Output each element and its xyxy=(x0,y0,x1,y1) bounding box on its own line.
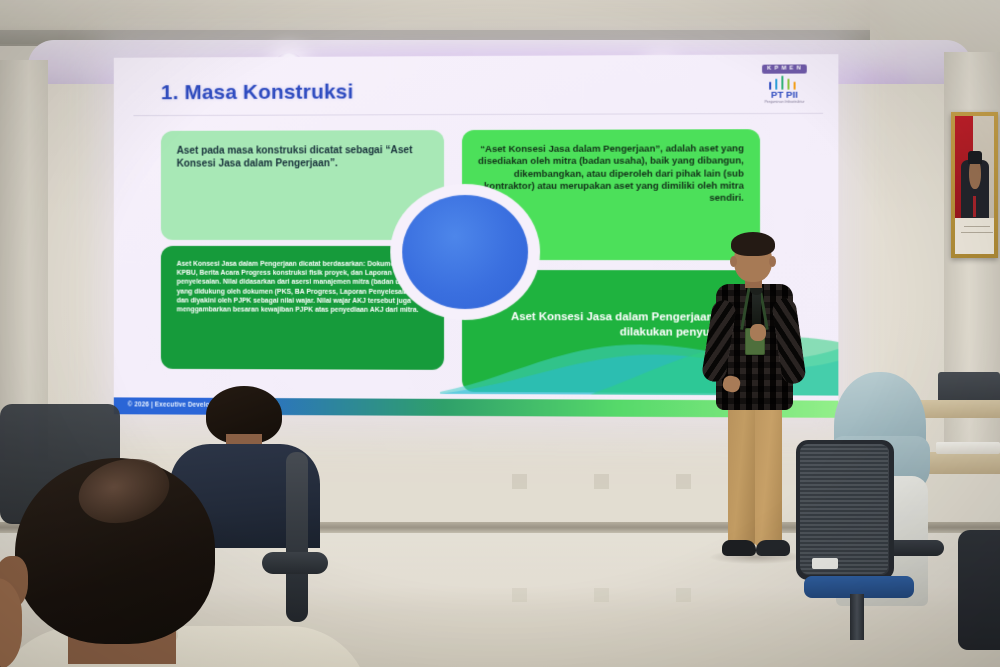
portrait-caption-line xyxy=(964,226,990,228)
chair-armrest xyxy=(886,540,944,556)
logo-subtitle: Penjaminan Infrastruktur xyxy=(765,101,805,105)
wall-accent-square xyxy=(594,474,609,489)
portrait-peci-cap xyxy=(968,151,982,165)
presenter xyxy=(700,228,808,588)
presenter-ear-right xyxy=(769,256,776,267)
logo-badge-text: K P M E N xyxy=(762,64,807,73)
wall-accent-square xyxy=(512,474,527,489)
portrait-caption-line xyxy=(961,232,993,234)
presenter-hair xyxy=(731,232,775,256)
framed-official-portrait xyxy=(951,112,998,258)
presenter-leg-left xyxy=(728,404,755,546)
floor-reflection-square xyxy=(512,588,527,602)
office-chair-post xyxy=(850,594,864,640)
portrait-image xyxy=(955,116,994,254)
presenter-hand-right xyxy=(750,324,766,341)
presenter-leg-right xyxy=(755,404,782,546)
office-chair-far-right xyxy=(958,530,1000,650)
office-chair-back xyxy=(796,440,894,580)
blue-circle-icon xyxy=(402,195,528,309)
presenter-shoe-left xyxy=(722,540,756,556)
presentation-room-scene: 1. Masa Konstruksi K P M E N PT PII Penj… xyxy=(0,0,1000,667)
logo-name: PT PII xyxy=(771,90,798,100)
slide-title: 1. Masa Konstruksi xyxy=(161,81,354,106)
wall-accent-square xyxy=(676,474,691,489)
chair-mesh xyxy=(800,444,888,574)
logo-arc-icon xyxy=(767,74,802,89)
floor-reflection-square xyxy=(594,588,609,602)
floor-reflection-square xyxy=(676,588,691,602)
slide-title-divider xyxy=(133,113,823,116)
presenter-ear-left xyxy=(730,256,737,267)
portrait-caption-plate xyxy=(955,221,994,254)
presenter-shoe-right xyxy=(756,540,790,556)
attendee-shirt xyxy=(0,626,370,667)
attendee-hijab xyxy=(800,372,980,667)
attendee-cream-shirt xyxy=(0,430,380,667)
portrait-tie xyxy=(973,196,976,217)
chair-label-sticker xyxy=(812,558,838,569)
wall-pillar-left xyxy=(0,60,48,460)
pt-pii-logo: K P M E N PT PII Penjaminan Infrastruktu… xyxy=(753,64,816,107)
